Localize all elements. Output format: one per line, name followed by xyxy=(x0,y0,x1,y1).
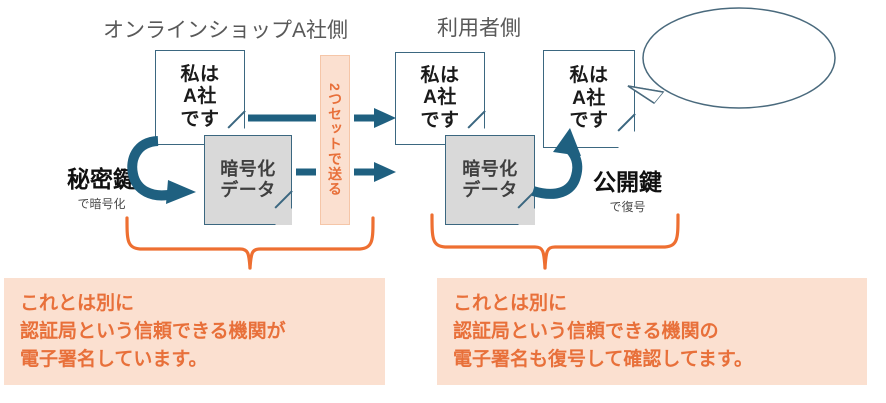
crypto-flow-diagram: オンラインショップA社側 利用者側 私は A社 です 暗号化 データ 秘密鍵 で… xyxy=(0,0,886,403)
speech-bubble-shape xyxy=(628,8,835,108)
transfer-arrow-bottom xyxy=(296,162,396,182)
decrypt-curve-arrow xyxy=(533,128,581,194)
diagram-vector-layer xyxy=(0,0,886,403)
encrypt-curve-arrow xyxy=(132,141,196,204)
transfer-arrow-top xyxy=(248,108,396,128)
brace-right xyxy=(432,215,678,268)
brace-left xyxy=(127,218,373,268)
